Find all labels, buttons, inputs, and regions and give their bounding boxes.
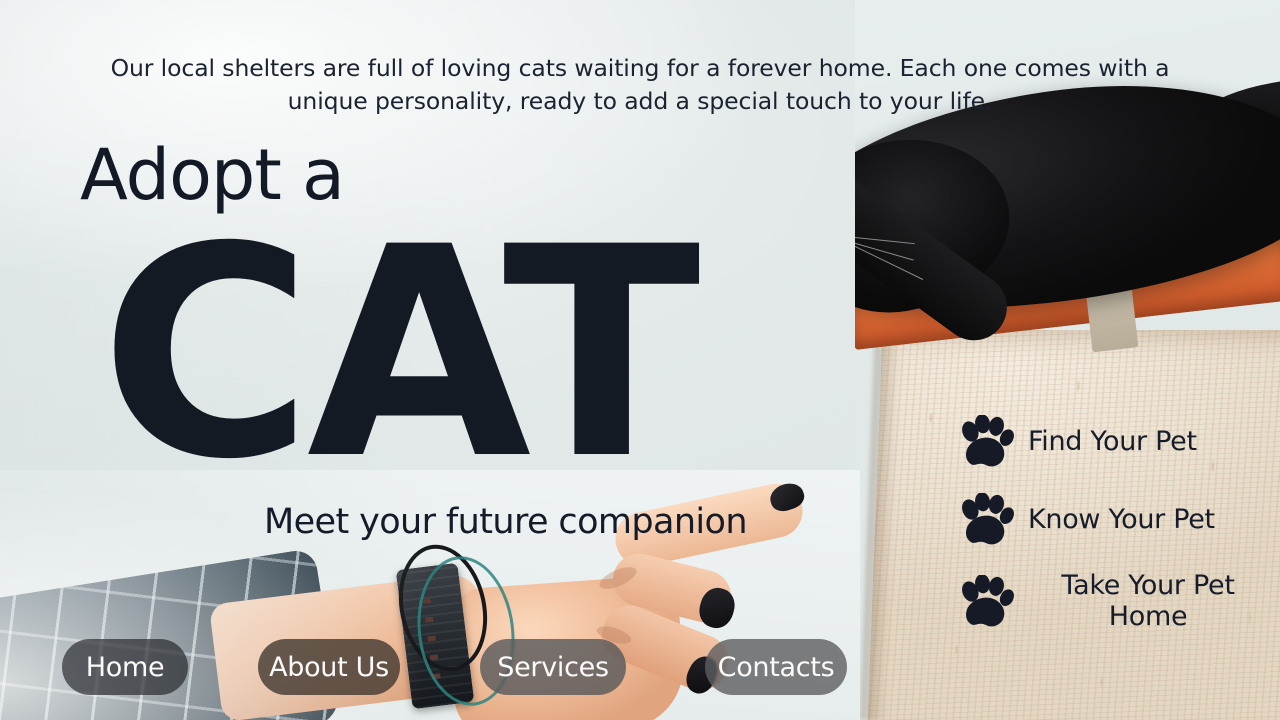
paw-icon <box>958 493 1014 547</box>
paw-icon <box>958 575 1014 629</box>
nav-item-about-us[interactable]: About Us <box>258 639 400 695</box>
feature-label: Find Your Pet <box>1028 427 1197 458</box>
nav-item-services[interactable]: Services <box>480 639 626 695</box>
tagline: Meet your future companion <box>264 505 747 540</box>
feature-item-take-your-pet-home[interactable]: Take Your Pet Home <box>958 571 1268 632</box>
nav-item-home[interactable]: Home <box>62 639 188 695</box>
feature-item-find-your-pet[interactable]: Find Your Pet <box>958 415 1268 469</box>
intro-paragraph: Our local shelters are full of loving ca… <box>88 52 1192 119</box>
poster-canvas: Our local shelters are full of loving ca… <box>0 0 1280 720</box>
feature-item-know-your-pet[interactable]: Know Your Pet <box>958 493 1268 547</box>
feature-list: Find Your Pet Know Your Pet Take Your Pe… <box>958 415 1268 632</box>
paw-icon <box>958 415 1014 469</box>
nav-item-contacts[interactable]: Contacts <box>705 639 847 695</box>
feature-label: Take Your Pet Home <box>1028 571 1268 632</box>
feature-label: Know Your Pet <box>1028 505 1215 536</box>
page-title: CAT <box>100 210 695 500</box>
